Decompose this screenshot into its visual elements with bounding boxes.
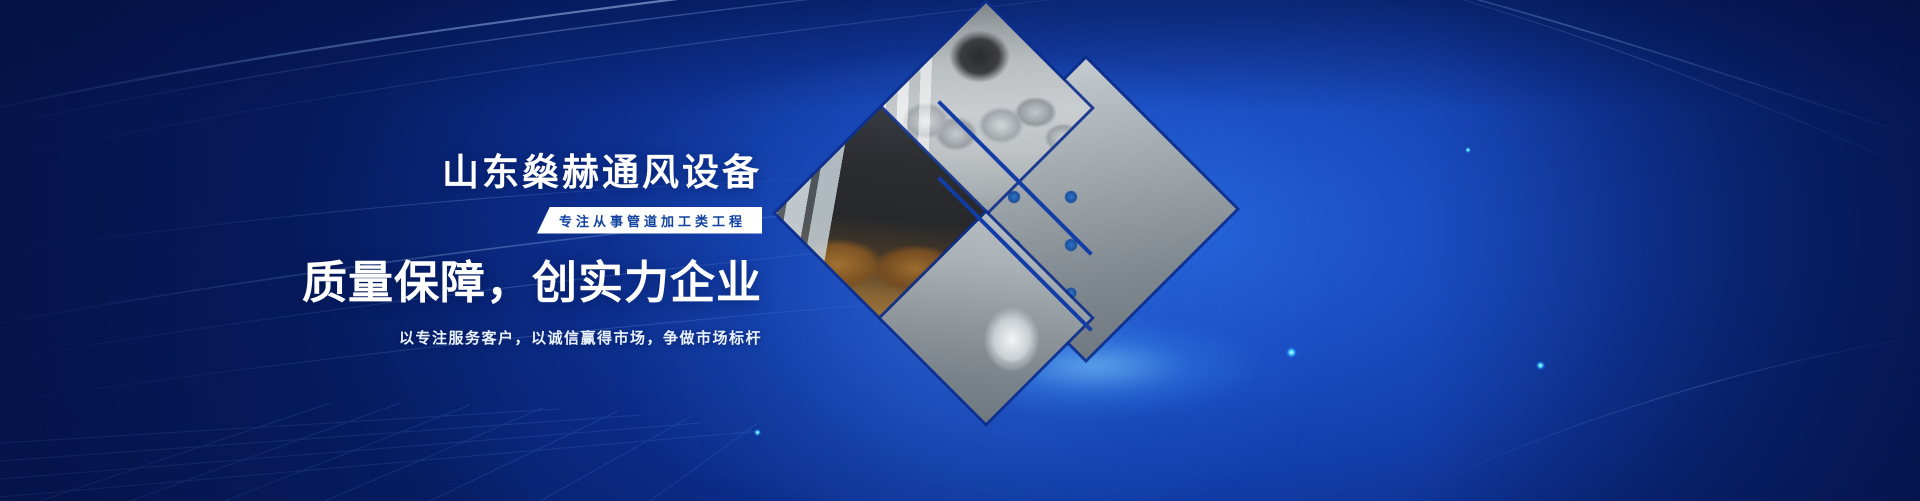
hero-banner: 山东燊赫通风设备 专注从事管道加工类工程 质量保障，创实力企业 以专注服务客户，…	[0, 0, 1920, 501]
hero-headline: 质量保障，创实力企业	[302, 260, 762, 305]
tagline-badge: 专注从事管道加工类工程	[537, 207, 762, 234]
tagline-badge-text: 专注从事管道加工类工程	[559, 211, 746, 230]
diamond-photo-collage	[795, 0, 1265, 501]
hero-subheadline: 以专注服务客户，以诚信赢得市场，争做市场标杆	[399, 327, 762, 348]
company-title: 山东燊赫通风设备	[442, 154, 762, 191]
hero-copy: 山东燊赫通风设备 专注从事管道加工类工程 质量保障，创实力企业 以专注服务客户，…	[0, 0, 790, 501]
